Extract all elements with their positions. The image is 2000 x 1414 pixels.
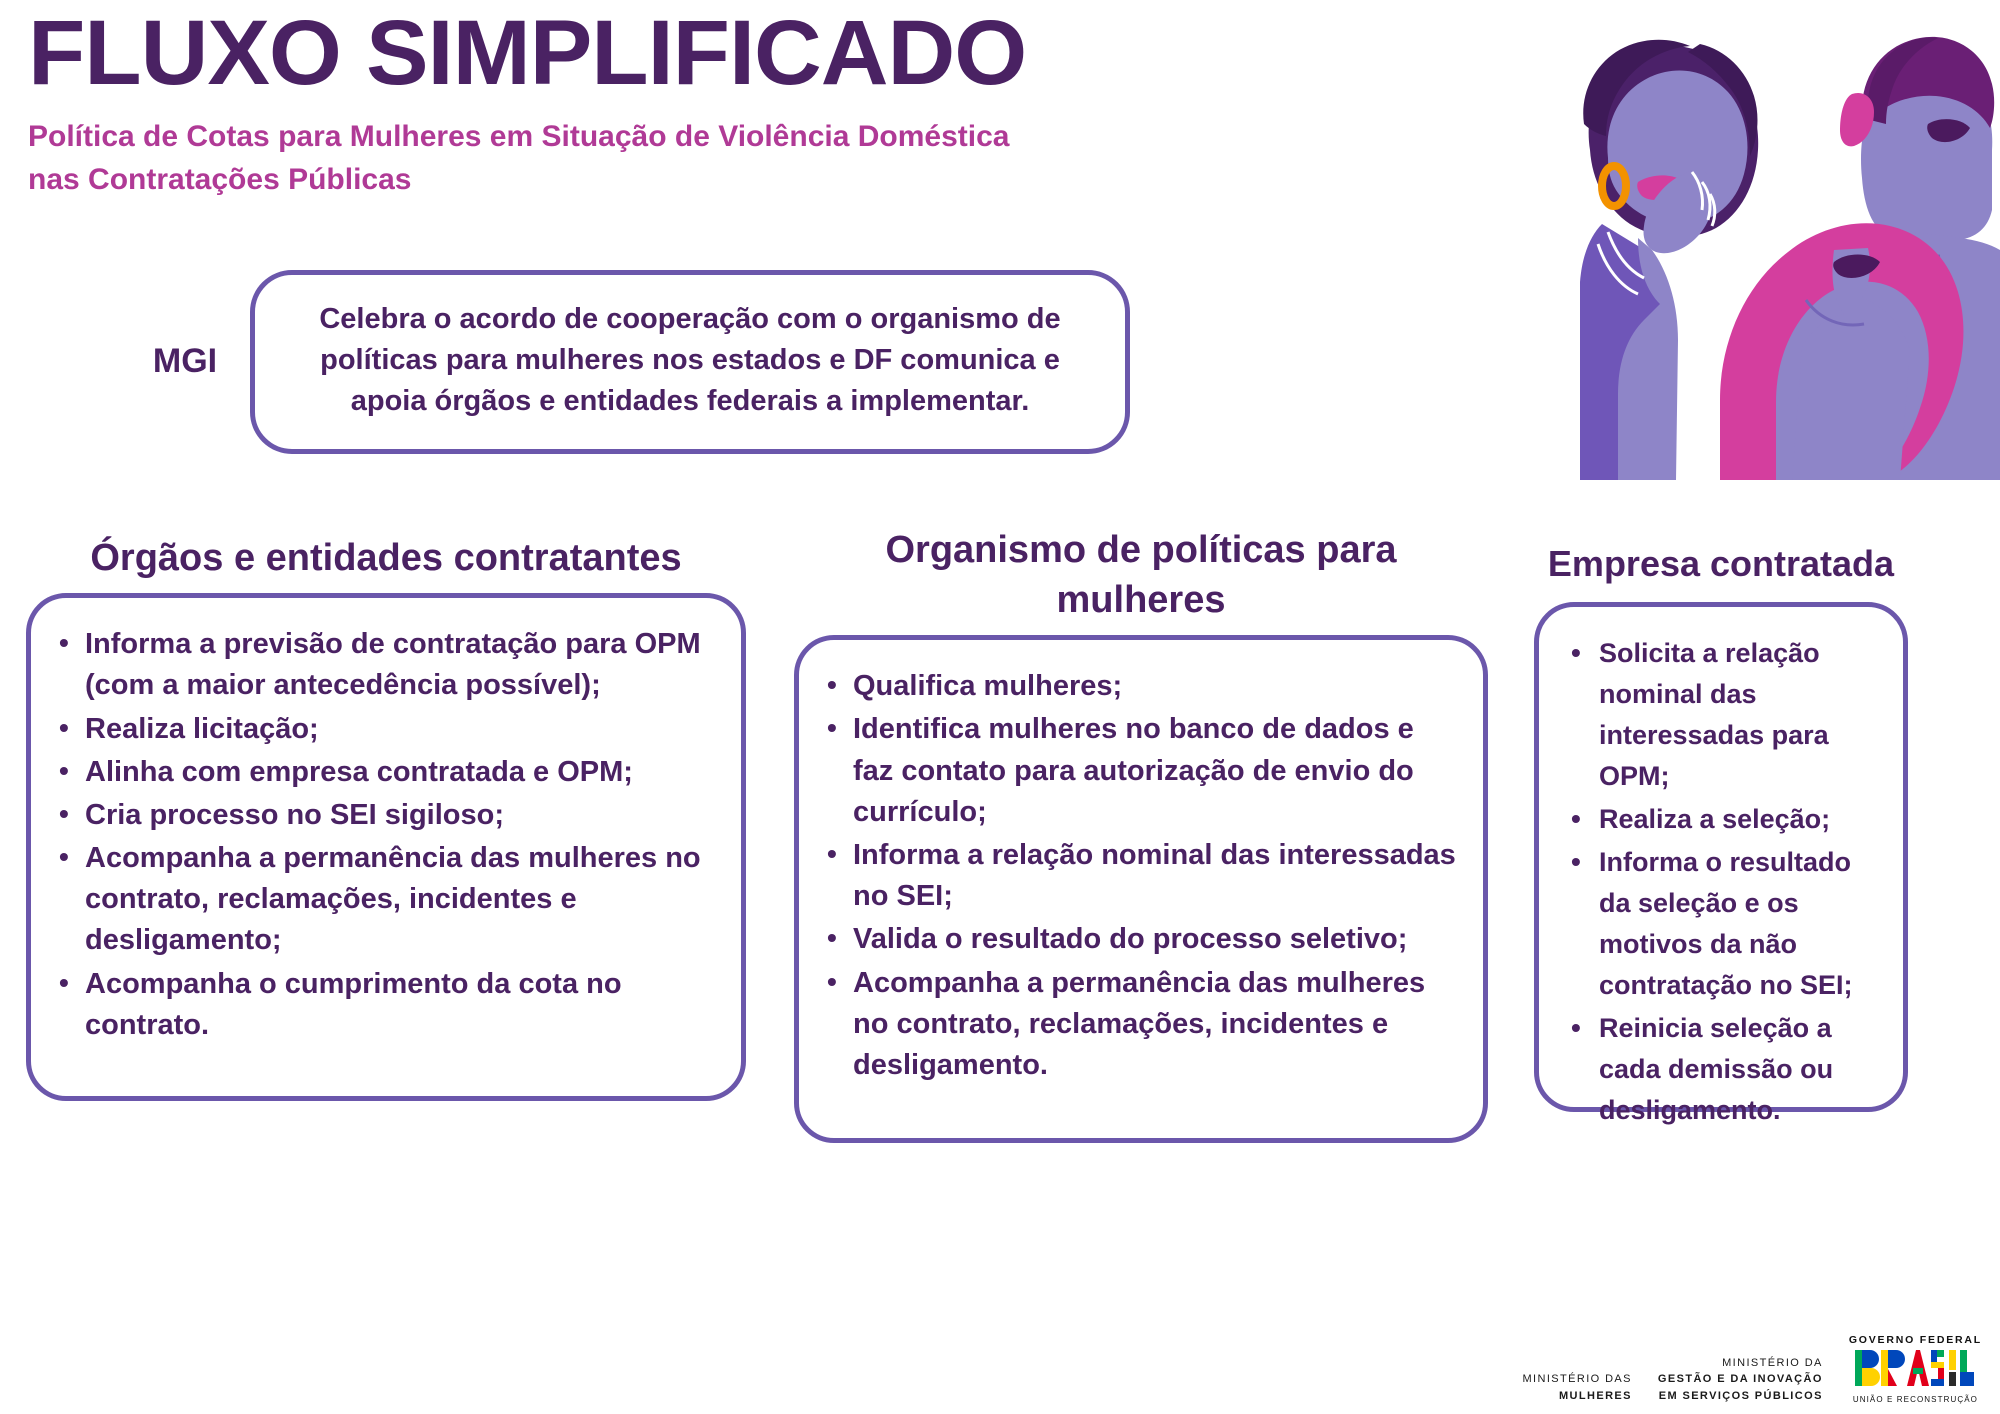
list-item: Qualifica mulheres; [853, 666, 1457, 707]
logo-line: GESTÃO E DA INOVAÇÃO [1658, 1371, 1823, 1388]
woman-afro [1580, 40, 1758, 480]
list-item: Informa a relação nominal das interessad… [853, 835, 1457, 917]
panel-orgaos: Informa a previsão de contratação para O… [26, 593, 746, 1101]
panel-organismo: Qualifica mulheres; Identifica mulheres … [794, 635, 1488, 1143]
logo-line: MINISTÉRIO DAS [1522, 1371, 1631, 1388]
footer-logos: MINISTÉRIO DAS MULHERES MINISTÉRIO DA GE… [1522, 1334, 1982, 1404]
list-item: Realiza licitação; [85, 709, 715, 750]
logo-line: MULHERES [1522, 1388, 1631, 1405]
column-heading-empresa: Empresa contratada [1534, 540, 1908, 588]
woman-back [1840, 37, 2000, 480]
column-heading-orgaos: Órgãos e entidades contratantes [26, 533, 746, 583]
list-item: Reinicia seleção a cada demissão ou desl… [1599, 1008, 1877, 1131]
page-subtitle: Política de Cotas para Mulheres em Situa… [28, 116, 1288, 201]
header: FLUXO SIMPLIFICADO Política de Cotas par… [28, 8, 1328, 201]
column-heading-organismo: Organismo de políticas para mulheres [794, 525, 1488, 625]
gov-tagline: UNIÃO E RECONSTRUÇÃO [1849, 1395, 1982, 1404]
panel-empresa: Solicita a relação nominal das interessa… [1534, 602, 1908, 1112]
columns-container: Órgãos e entidades contratantes Informa … [26, 525, 1974, 1335]
list-empresa: Solicita a relação nominal das interessa… [1553, 633, 1877, 1131]
subtitle-line-1: Política de Cotas para Mulheres em Situa… [28, 116, 1288, 159]
logo-line: MINISTÉRIO DA [1658, 1355, 1823, 1372]
mgi-text: Celebra o acordo de cooperação com o org… [285, 299, 1095, 423]
list-item: Valida o resultado do processo seletivo; [853, 919, 1457, 960]
list-item: Informa o resultado da seleção e os moti… [1599, 842, 1877, 1006]
column-orgaos-entidades: Órgãos e entidades contratantes Informa … [26, 525, 746, 1101]
women-illustration-svg [1580, 0, 2000, 480]
page-title: FLUXO SIMPLIFICADO [28, 8, 1354, 98]
list-item: Acompanha a permanência das mulheres no … [853, 963, 1457, 1087]
logo-ministerio-mulheres: MINISTÉRIO DAS MULHERES [1522, 1371, 1631, 1404]
list-orgaos: Informa a previsão de contratação para O… [45, 624, 715, 1046]
logo-line: EM SERVIÇOS PÚBLICOS [1658, 1388, 1823, 1405]
mgi-box: Celebra o acordo de cooperação com o org… [250, 270, 1130, 454]
list-organismo: Qualifica mulheres; Identifica mulheres … [813, 666, 1457, 1086]
woman-pink-hair [1720, 223, 1963, 480]
list-item: Informa a previsão de contratação para O… [85, 624, 715, 706]
list-item: Acompanha o cumprimento da cota no contr… [85, 964, 715, 1046]
mgi-label: MGI [120, 342, 250, 381]
list-item: Cria processo no SEI sigiloso; [85, 795, 715, 836]
women-illustration [1580, 0, 2000, 480]
mgi-row: MGI Celebra o acordo de cooperação com o… [120, 270, 1130, 454]
brasil-wordmark-icon [1855, 1348, 1975, 1388]
subtitle-line-2: nas Contratações Públicas [28, 159, 1288, 202]
list-item: Acompanha a permanência das mulheres no … [85, 838, 715, 962]
logo-governo-federal: GOVERNO FEDERAL UNIÃO E R [1849, 1334, 1982, 1404]
list-item: Identifica mulheres no banco de dados e … [853, 709, 1457, 833]
column-empresa-contratada: Empresa contratada Solicita a relação no… [1534, 525, 1908, 1112]
list-item: Alinha com empresa contratada e OPM; [85, 752, 715, 793]
gov-federal-label: GOVERNO FEDERAL [1849, 1334, 1982, 1346]
column-organismo-politicas: Organismo de políticas para mulheres Qua… [794, 525, 1488, 1143]
list-item: Solicita a relação nominal das interessa… [1599, 633, 1877, 797]
list-item: Realiza a seleção; [1599, 799, 1877, 840]
logo-ministerio-gestao: MINISTÉRIO DA GESTÃO E DA INOVAÇÃO EM SE… [1658, 1355, 1823, 1405]
